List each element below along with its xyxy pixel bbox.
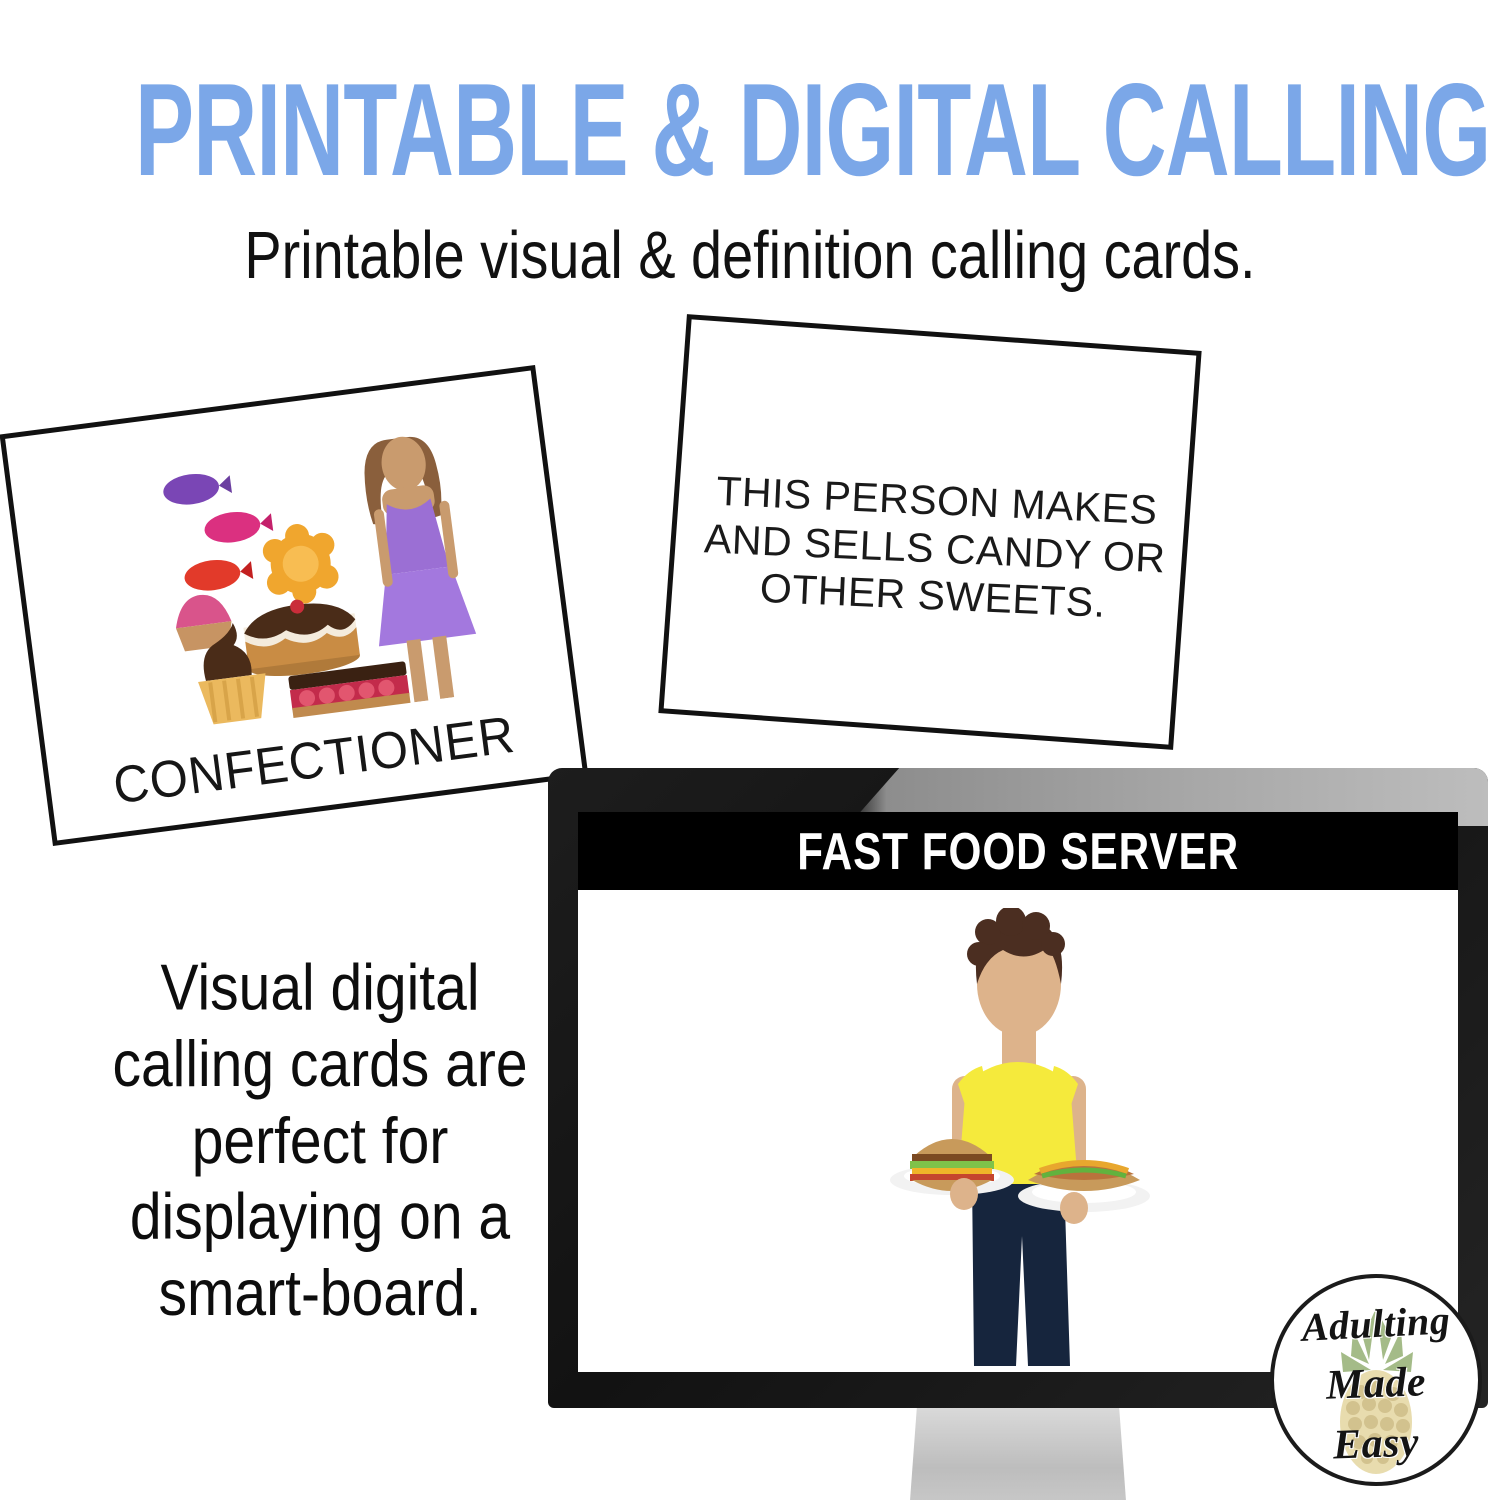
definition-card-text: THIS PERSON MAKES AND SELLS CANDY OR OTH… <box>687 467 1183 631</box>
woman-in-purple-dress <box>353 430 484 705</box>
logo-line-2: Made <box>1273 1356 1479 1411</box>
poster-canvas: PRINTABLE & DIGITAL CALLING CARDS Printa… <box>0 0 1500 1500</box>
orange-flower-cookie <box>260 519 342 608</box>
pink-wrapped-candy <box>203 507 274 546</box>
page-title: PRINTABLE & DIGITAL CALLING CARDS <box>135 64 1365 196</box>
head <box>967 908 1065 1036</box>
description-paragraph: Visual digital calling cards are perfect… <box>102 950 539 1332</box>
logo-line-3: Easy <box>1273 1416 1479 1471</box>
purple-wrapped-candy <box>161 469 232 508</box>
chocolate-layer-cake <box>241 592 362 681</box>
confectioner-illustration <box>7 384 571 750</box>
fast-food-server-illustration <box>848 908 1188 1372</box>
logo-line-1: Adulting <box>1273 1295 1479 1353</box>
visual-calling-card: CONFECTIONER <box>0 365 588 846</box>
page-subtitle: Printable visual & definition calling ca… <box>53 222 1448 289</box>
left-hand <box>950 1178 978 1210</box>
right-hand <box>1060 1192 1088 1224</box>
screen-title-text: FAST FOOD SERVER <box>797 821 1239 881</box>
screen-titlebar: FAST FOOD SERVER <box>578 812 1458 890</box>
red-wrapped-candy <box>183 555 254 594</box>
monitor-stand <box>908 1408 1128 1500</box>
definition-calling-card: THIS PERSON MAKES AND SELLS CANDY OR OTH… <box>658 314 1201 750</box>
brand-logo-badge: Adulting Made Easy <box>1270 1274 1482 1486</box>
